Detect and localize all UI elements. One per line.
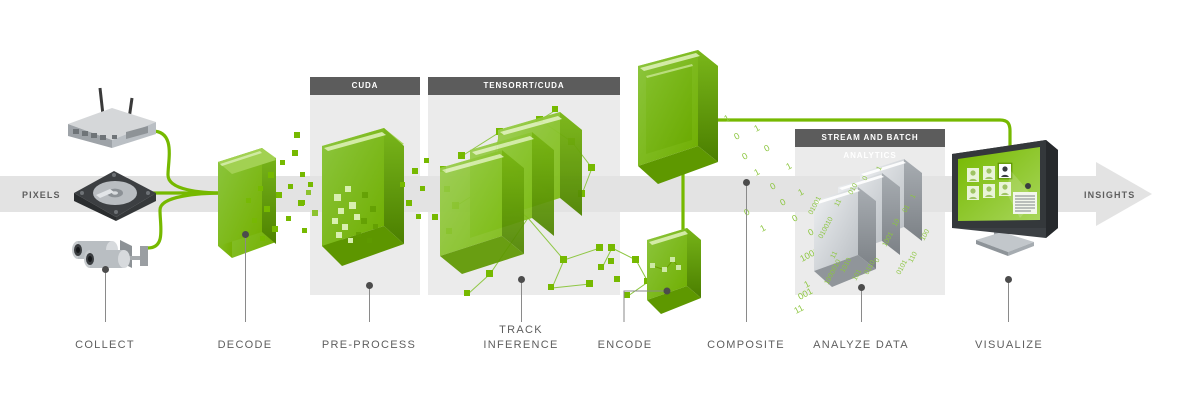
callout-dot-decode [242,231,249,238]
callout-line-composite [746,183,747,322]
callout-line-analyze [861,288,862,322]
stage-label-encode: ENCODE [565,338,685,353]
wifi-router-icon [60,86,160,153]
callout-dot-composite [743,179,750,186]
stage-label-composite: COMPOSITE [685,338,807,353]
composite-box [636,50,728,190]
callout-line-inference [521,280,522,322]
analytics-stack: 01001 010010 11 1010 101 1000010 0110 0 … [808,155,938,295]
display-monitor-icon [950,140,1062,263]
stage-label-inference: TRACK INFERENCE [461,323,581,353]
encode-box [645,228,715,318]
callout-line-decode [245,235,246,322]
svg-text:0: 0 [762,143,771,154]
callout-dot-collect [102,266,109,273]
pixels-label: PIXELS [22,190,61,200]
stage-label-preprocess: PRE-PROCESS [309,338,429,353]
svg-text:0: 0 [740,151,749,162]
pipeline-diagram: CUDA TENSORRT/CUDA STREAM AND BATCH ANAL… [0,0,1200,412]
callout-dot-visualize [1005,276,1012,283]
svg-text:1: 1 [752,123,761,134]
svg-text:110: 110 [908,251,919,264]
callout-dot-preprocess [366,282,373,289]
security-camera-icon [62,222,154,281]
hard-disk-icon [70,165,160,226]
svg-text:11: 11 [792,303,805,316]
stage-label-decode: DECODE [185,338,305,353]
inference-stack [432,98,622,313]
stage-label-visualize: VISUALIZE [948,338,1070,353]
preprocess-box [318,128,418,308]
callout-dot-analyze [858,284,865,291]
panel-header-cuda: CUDA [310,77,420,95]
svg-text:1: 1 [758,223,767,234]
decode-box [214,148,304,278]
callout-line-collect [105,270,106,322]
stage-label-analyze: ANALYZE DATA [800,338,922,353]
panel-header-tensorrt: TENSORRT/CUDA [428,77,620,95]
svg-text:1: 1 [784,161,793,172]
stage-label-collect: COLLECT [45,338,165,353]
callout-dot-inference [518,276,525,283]
svg-text:0: 0 [732,131,741,142]
panel-header-analytics: STREAM AND BATCH ANALYTICS [795,129,945,147]
callout-line-visualize [1008,280,1009,322]
insights-label: INSIGHTS [1084,190,1135,200]
callout-line-preprocess [369,286,370,322]
